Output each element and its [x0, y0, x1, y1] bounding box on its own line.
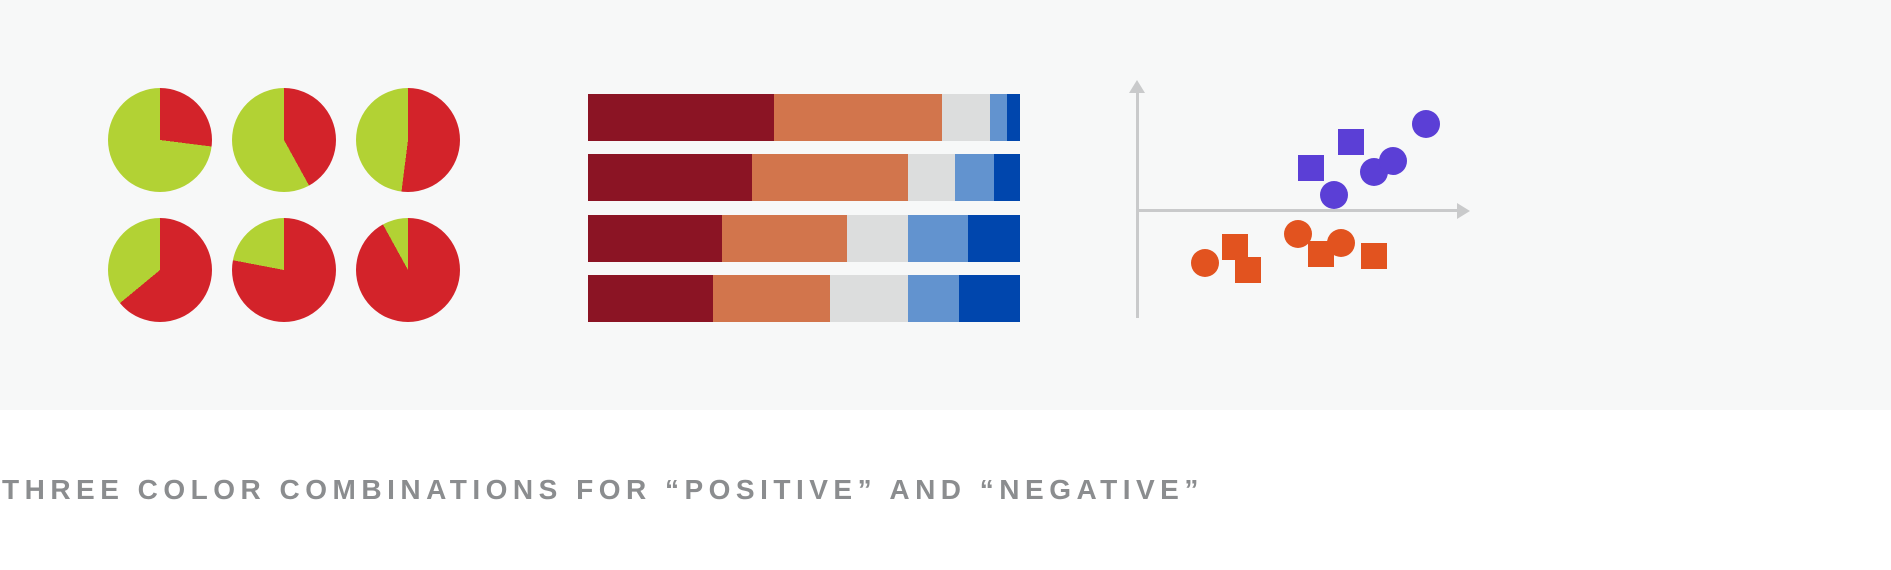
- figure-caption: THREE COLOR COMBINATIONS FOR “POSITIVE” …: [0, 410, 1891, 570]
- bar-segment-neutral: [908, 154, 956, 201]
- table-row: [588, 215, 1020, 262]
- stacked-bar-chart: [588, 94, 1020, 322]
- bar-segment-strongly-positive: [968, 215, 1020, 262]
- bar-segment-strongly-negative: [588, 275, 713, 322]
- scatter-plot-panel: [1120, 0, 1891, 410]
- table-row: [588, 275, 1020, 322]
- scatter-point-negative-circle: [1327, 229, 1355, 257]
- scatter-point-positive-square: [1338, 129, 1364, 155]
- bar-segment-positive: [990, 94, 1007, 141]
- pie-chart: [108, 218, 212, 322]
- scatter-point-positive-square: [1298, 155, 1324, 181]
- table-row: [588, 154, 1020, 201]
- scatter-point-positive-circle: [1379, 147, 1407, 175]
- bar-segment-strongly-negative: [588, 94, 774, 141]
- caption-text: THREE COLOR COMBINATIONS FOR “POSITIVE” …: [0, 474, 1204, 506]
- stacked-bar-panel: [560, 0, 1120, 410]
- bar-segment-strongly-positive: [1007, 94, 1020, 141]
- scatter-plot: [1120, 80, 1540, 330]
- figure-root: THREE COLOR COMBINATIONS FOR “POSITIVE” …: [0, 0, 1891, 570]
- bar-segment-negative: [722, 215, 847, 262]
- bar-segment-strongly-negative: [588, 215, 722, 262]
- pie-grid: [108, 88, 468, 328]
- bar-segment-neutral: [942, 94, 990, 141]
- bar-segment-neutral: [830, 275, 908, 322]
- x-axis-arrow-icon: [1457, 203, 1470, 219]
- x-axis-line: [1136, 209, 1466, 212]
- bar-segment-neutral: [847, 215, 907, 262]
- pie-chart: [356, 88, 460, 192]
- pie-chart: [232, 218, 336, 322]
- scatter-point-negative-circle: [1191, 249, 1219, 277]
- bar-segment-strongly-negative: [588, 154, 752, 201]
- bar-segment-negative: [774, 94, 942, 141]
- bar-segment-negative: [713, 275, 830, 322]
- scatter-point-positive-circle: [1320, 181, 1348, 209]
- scatter-point-negative-square: [1235, 257, 1261, 283]
- bar-segment-strongly-positive: [994, 154, 1020, 201]
- scatter-point-positive-circle: [1412, 110, 1440, 138]
- pie-chart: [232, 88, 336, 192]
- bar-segment-positive: [955, 154, 994, 201]
- table-row: [588, 94, 1020, 141]
- pie-chart: [108, 88, 212, 192]
- y-axis-arrow-icon: [1129, 80, 1145, 93]
- bar-segment-positive: [908, 215, 968, 262]
- bar-segment-negative: [752, 154, 908, 201]
- pie-charts-panel: [0, 0, 560, 410]
- bar-segment-strongly-positive: [959, 275, 1019, 322]
- bar-segment-positive: [908, 275, 960, 322]
- y-axis-line: [1136, 90, 1139, 318]
- scatter-point-negative-square: [1361, 243, 1387, 269]
- pie-chart: [356, 218, 460, 322]
